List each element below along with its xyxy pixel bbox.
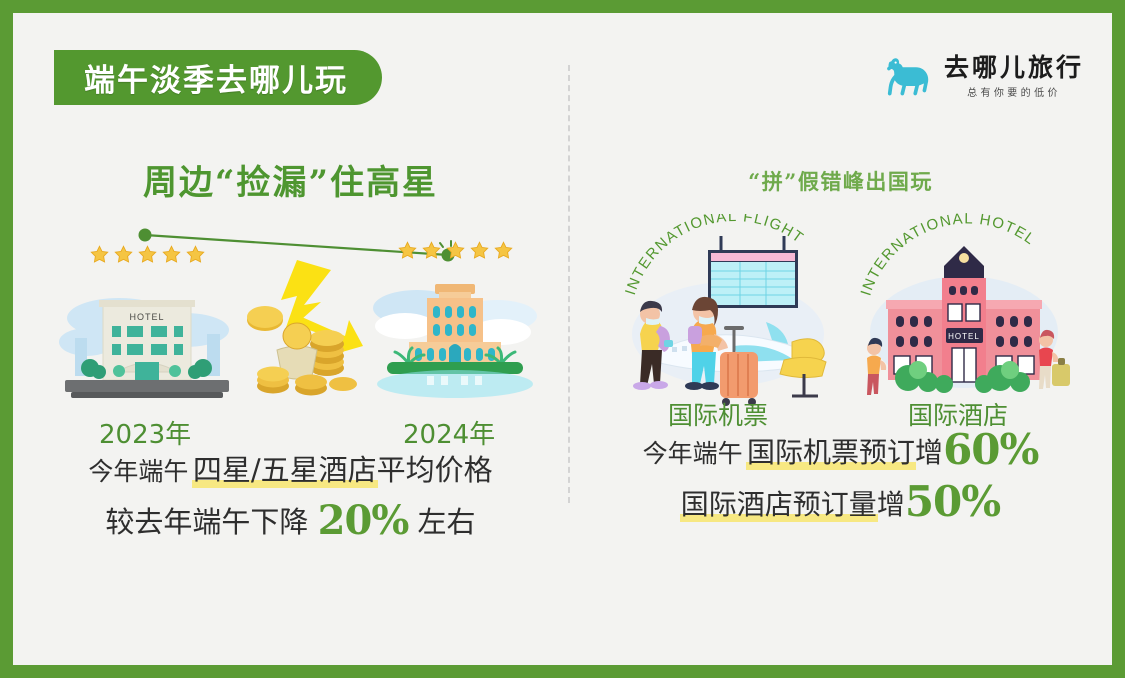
page-title: 端午淡季去哪儿玩 [84, 55, 348, 100]
year-label-2024: 2024年 [403, 414, 495, 451]
right-stat-line-2: 国际机票预订增60% [747, 429, 1038, 471]
poster-canvas: 端午淡季去哪儿玩 去哪儿旅行 总有你要的低价 周边“捡漏”住高星 [13, 13, 1112, 665]
left-section-heading: 周边“捡漏”住高星 [13, 155, 568, 204]
star-icon [161, 244, 182, 265]
left-stat-line-3-pre: 较去年端午下降 [105, 505, 308, 539]
international-hotel-icon: INTERNATIONAL HOTEL [856, 212, 1071, 412]
brand-slogan: 总有你要的低价 [967, 84, 1061, 99]
camel-icon [880, 53, 936, 101]
right-stat-line-2-rest: 增 [915, 436, 943, 469]
star-icon [421, 240, 442, 261]
svg-text:HOTEL: HOTEL [948, 332, 980, 341]
left-stat-highlight: 四星/五星酒店 [193, 447, 377, 489]
left-stats-block: 今年端午 四星/五星酒店平均价格 较去年端午下降 20% 左右 [13, 447, 568, 541]
poster: 端午淡季去哪儿玩 去哪儿旅行 总有你要的低价 周边“捡漏”住高星 [0, 0, 1125, 678]
right-stats-block: 今年端午 国际机票预订增60% 国际酒店预订量增50% [568, 429, 1112, 523]
svg-text:HOTEL: HOTEL [129, 312, 164, 322]
right-stat-highlight-flight: 国际机票预订 [747, 431, 915, 471]
star-rating-2024 [365, 240, 545, 261]
right-stat-percentage-hotel: 50% [905, 477, 1000, 526]
right-stat-percentage-flight: 60% [943, 425, 1038, 474]
international-flight-icon: INTERNATIONAL FLIGHT [616, 214, 841, 414]
right-illustration-row: INTERNATIONAL FLIGHT [568, 204, 1112, 419]
star-icon [445, 240, 466, 261]
brand-logo[interactable]: 去哪儿旅行 总有你要的低价 [880, 53, 1084, 101]
star-icon [89, 244, 110, 265]
right-column: “拼”假错峰出国玩 INTERNATIONAL FLIGHT [568, 133, 1112, 523]
hotel-2024-illustration [365, 240, 545, 409]
left-stat-line-3: 较去年端午下降 20% 左右 [105, 499, 475, 541]
year-label-2023: 2023年 [99, 414, 191, 451]
left-column: 周边“捡漏”住高星 [13, 133, 568, 541]
page-title-banner: 端午淡季去哪儿玩 [54, 50, 382, 105]
star-rating-2023 [57, 244, 237, 265]
left-illustration-row: HOTEL [13, 222, 568, 437]
left-stat-line-3-post: 左右 [418, 505, 476, 539]
star-icon [493, 240, 514, 261]
left-stat-percentage: 20% [318, 497, 409, 544]
right-stat-line-3: 国际酒店预订量增50% [681, 481, 1000, 523]
hotel-2024-icon [365, 264, 545, 404]
star-icon [137, 244, 158, 265]
left-stat-line-2-rest: 平均价格 [377, 453, 493, 487]
brand-name: 去哪儿旅行 [944, 55, 1084, 81]
star-icon [113, 244, 134, 265]
right-section-heading: “拼”假错峰出国玩 [568, 166, 1112, 196]
right-stat-line-3-rest: 增 [877, 488, 905, 521]
left-stat-line-2: 四星/五星酒店平均价格 [193, 447, 493, 489]
hotel-2023-illustration: HOTEL [57, 244, 237, 413]
coins-and-down-arrow-icon [235, 258, 365, 398]
star-icon [397, 240, 418, 261]
right-item-label-flight: 国际机票 [668, 396, 768, 432]
hotel-2023-icon: HOTEL [57, 268, 237, 408]
right-stat-line-1: 今年端午 [643, 434, 743, 470]
star-icon [185, 244, 206, 265]
star-icon [469, 240, 490, 261]
left-stat-line-1: 今年端午 [88, 452, 188, 488]
right-stat-highlight-hotel: 国际酒店预订量 [681, 483, 877, 523]
